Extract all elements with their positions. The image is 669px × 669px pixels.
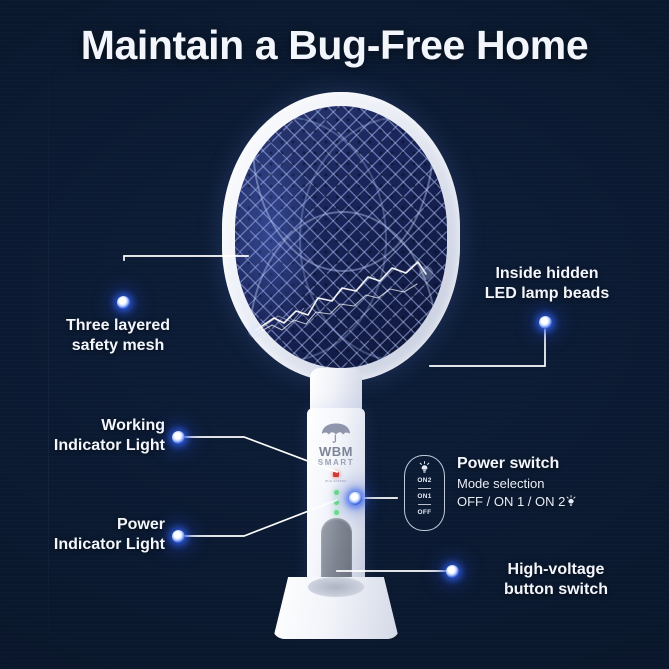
power-switch-modes: OFF / ON 1 / ON 2 — [457, 494, 577, 509]
brand-name: WBM — [307, 445, 365, 458]
glowing-dot-icon — [172, 530, 185, 543]
power-switch-position-on2[interactable]: ON2 — [405, 477, 444, 484]
glowing-dot-icon — [539, 316, 552, 329]
working-indicator-led — [334, 510, 339, 515]
callout-label-inside-hidden-led-lamp-beads: Inside hidden LED lamp beads — [458, 264, 636, 304]
power-switch-diagram: ON2 ON1 OFF — [404, 455, 445, 531]
umbrella-icon — [319, 422, 353, 444]
safety-mesh — [235, 106, 447, 368]
charging-base-slot — [308, 577, 364, 597]
power-switch-modes-text: OFF / ON 1 / ON 2 — [457, 494, 565, 509]
glowing-dot-icon — [172, 431, 185, 444]
glowing-dot-icon — [446, 565, 459, 578]
callout-label-working-indicator-light: Working Indicator Light — [0, 416, 165, 456]
glowing-dot-icon — [117, 296, 130, 309]
brand-subname: SMART — [307, 458, 365, 468]
racket-head — [222, 92, 460, 382]
working-indicator-led — [334, 490, 339, 495]
handle-micro-text: BUG ZAPPER — [307, 479, 365, 483]
callout-label-power-indicator-light: Power Indicator Light — [0, 515, 165, 555]
power-switch-position-off[interactable]: OFF — [405, 509, 444, 516]
infographic-canvas: Maintain a Bug-Free Home — [0, 0, 669, 669]
power-switch-title: Power switch — [457, 455, 559, 473]
lamp-icon — [565, 495, 577, 510]
brand-logo: WBM SMART — [307, 422, 365, 468]
glowing-dot-icon — [349, 492, 362, 505]
working-indicator-led — [334, 500, 339, 505]
power-switch-subtitle: Mode selection — [457, 476, 544, 491]
callout-label-high-voltage-button-switch: High-voltage button switch — [466, 560, 646, 600]
power-switch-position-on1[interactable]: ON1 — [405, 493, 444, 500]
switch-divider — [418, 488, 431, 489]
switch-divider — [418, 504, 431, 505]
power-indicator-led — [333, 472, 339, 477]
callout-label-three-layered-safety-mesh: Three layered safety mesh — [28, 316, 208, 356]
